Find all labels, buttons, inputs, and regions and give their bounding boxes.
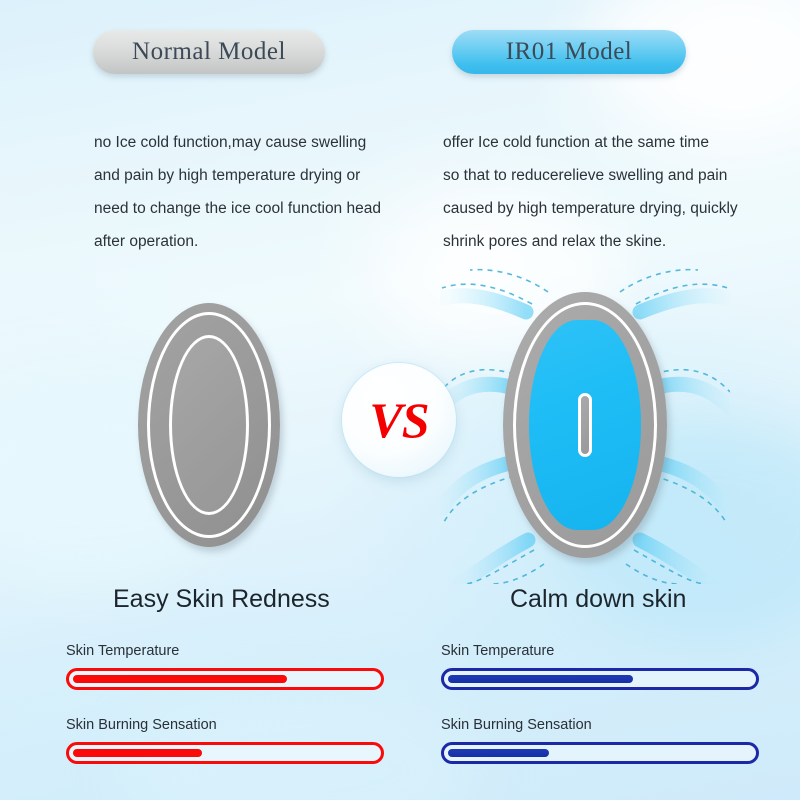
progress-fill (448, 675, 633, 683)
device-ice-cold-panel (529, 320, 641, 530)
metric-skin-burning-sensation: Skin Burning Sensation (66, 717, 384, 764)
device-inner-head (169, 335, 249, 515)
comparison-poster: Normal Model IR01 Model no Ice cold func… (0, 0, 800, 800)
progress-fill (448, 749, 549, 757)
progress-track (441, 742, 759, 764)
versus-label: VS (369, 395, 428, 445)
metric-label: Skin Temperature (441, 643, 759, 659)
metric-label: Skin Burning Sensation (441, 717, 759, 733)
caption-ir01-model: Calm down skin (510, 585, 686, 614)
description-normal-model: no Ice cold function,may cause swelling … (94, 126, 424, 258)
device-normal-model (138, 303, 280, 547)
metrics-ir01-model: Skin Temperature Skin Burning Sensation (441, 643, 759, 764)
metrics-normal-model: Skin Temperature Skin Burning Sensation (66, 643, 384, 764)
metric-label: Skin Temperature (66, 643, 384, 659)
progress-track (441, 668, 759, 690)
progress-track (66, 668, 384, 690)
progress-fill (73, 749, 202, 757)
progress-track (66, 742, 384, 764)
device-outer-shell (138, 303, 280, 547)
versus-badge: VS (342, 363, 456, 477)
caption-normal-model: Easy Skin Redness (113, 585, 330, 614)
device-outer-shell (503, 292, 667, 558)
metric-skin-burning-sensation: Skin Burning Sensation (441, 717, 759, 764)
metric-skin-temperature: Skin Temperature (441, 643, 759, 690)
device-inner-head (578, 393, 592, 457)
metric-skin-temperature: Skin Temperature (66, 643, 384, 690)
badge-normal-model: Normal Model (93, 30, 325, 74)
description-ir01-model: offer Ice cold function at the same time… (443, 126, 773, 258)
metric-label: Skin Burning Sensation (66, 717, 384, 733)
progress-fill (73, 675, 287, 683)
device-ir01-model (503, 292, 667, 558)
badge-ir01-model: IR01 Model (452, 30, 686, 74)
